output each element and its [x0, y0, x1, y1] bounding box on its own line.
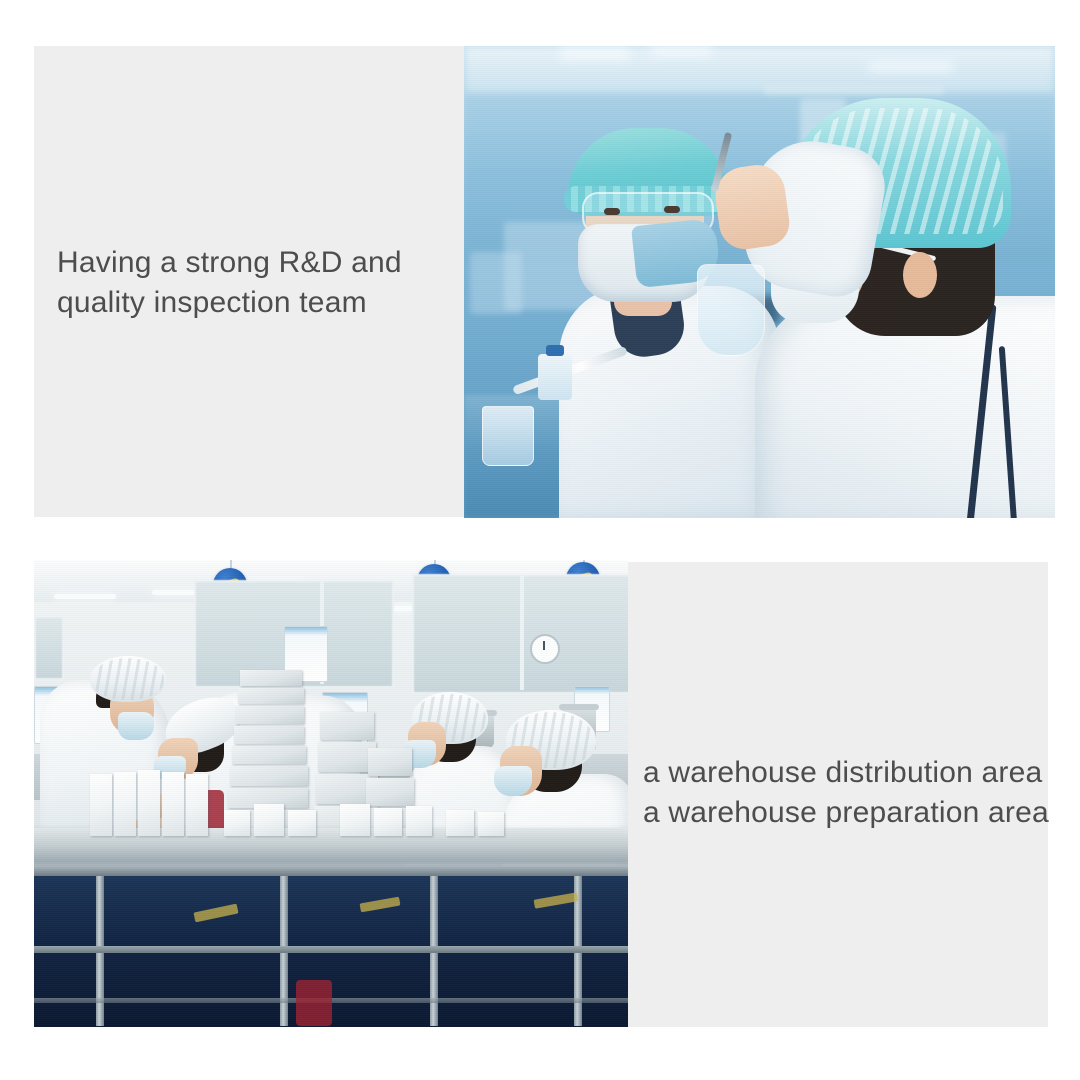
lab-beaker	[482, 406, 534, 466]
warehouse-worker-1-hairnet-texture	[92, 658, 164, 700]
box-on-table	[340, 804, 370, 836]
box-on-table	[162, 772, 184, 836]
box-stack-item	[238, 688, 304, 704]
lab-worker-1-eye	[604, 208, 620, 215]
box-on-table	[224, 810, 250, 836]
image-lab-quality-inspection	[464, 46, 1055, 518]
lab-ceiling-light	[560, 48, 630, 60]
caption-warehouse-line-2: a warehouse preparation area	[643, 793, 1049, 833]
lab-ceiling-light	[650, 46, 712, 56]
table-rail	[34, 946, 628, 953]
image-warehouse-packing	[34, 560, 628, 1027]
lab-reagent-bottle	[538, 354, 572, 400]
box-on-table	[406, 806, 432, 836]
lab-ceiling	[464, 46, 1055, 93]
box-stack-item	[368, 748, 412, 776]
box-stack-item	[232, 746, 306, 764]
box-on-table	[254, 804, 284, 836]
lab-flask	[697, 264, 765, 356]
box-stack-item	[230, 766, 308, 786]
warehouse-floor-item	[296, 980, 332, 1026]
caption-rnd-line-1: Having a strong R&D and	[57, 243, 402, 283]
box-stack-item	[366, 778, 414, 806]
packing-table-edge	[34, 866, 628, 876]
warehouse-worker-4-mask	[494, 766, 532, 796]
box-on-table	[114, 772, 136, 836]
box-stack-item	[236, 706, 304, 724]
warehouse-side-window	[34, 616, 64, 680]
caption-rnd-quality: Having a strong R&D and quality inspecti…	[57, 243, 402, 323]
box-stack-item	[240, 670, 302, 686]
page-canvas: Having a strong R&D and quality inspecti…	[0, 0, 1080, 1080]
lab-worker-1-eye	[664, 206, 680, 213]
warehouse-window-mullion	[520, 574, 524, 690]
lab-worker-2-ear	[903, 252, 937, 298]
warehouse-worker-1-mask	[118, 712, 154, 740]
box-on-table	[90, 774, 112, 836]
box-on-table	[138, 770, 160, 836]
caption-rnd-line-2: quality inspection team	[57, 283, 402, 323]
lab-equipment	[470, 252, 522, 314]
box-on-table	[374, 808, 402, 836]
box-stack-item	[234, 726, 304, 744]
lab-shelf	[764, 86, 944, 94]
wall-clock	[530, 634, 560, 664]
caption-warehouse: a warehouse distribution area a warehous…	[643, 753, 1049, 833]
box-on-table	[186, 774, 208, 836]
warehouse-ceiling-light	[54, 594, 116, 599]
lab-ceiling-light	[868, 62, 954, 71]
caption-warehouse-line-1: a warehouse distribution area	[643, 753, 1049, 793]
box-on-table	[478, 812, 504, 836]
box-on-table	[288, 810, 316, 836]
box-on-table	[446, 810, 474, 836]
box-stack-item	[320, 712, 374, 740]
